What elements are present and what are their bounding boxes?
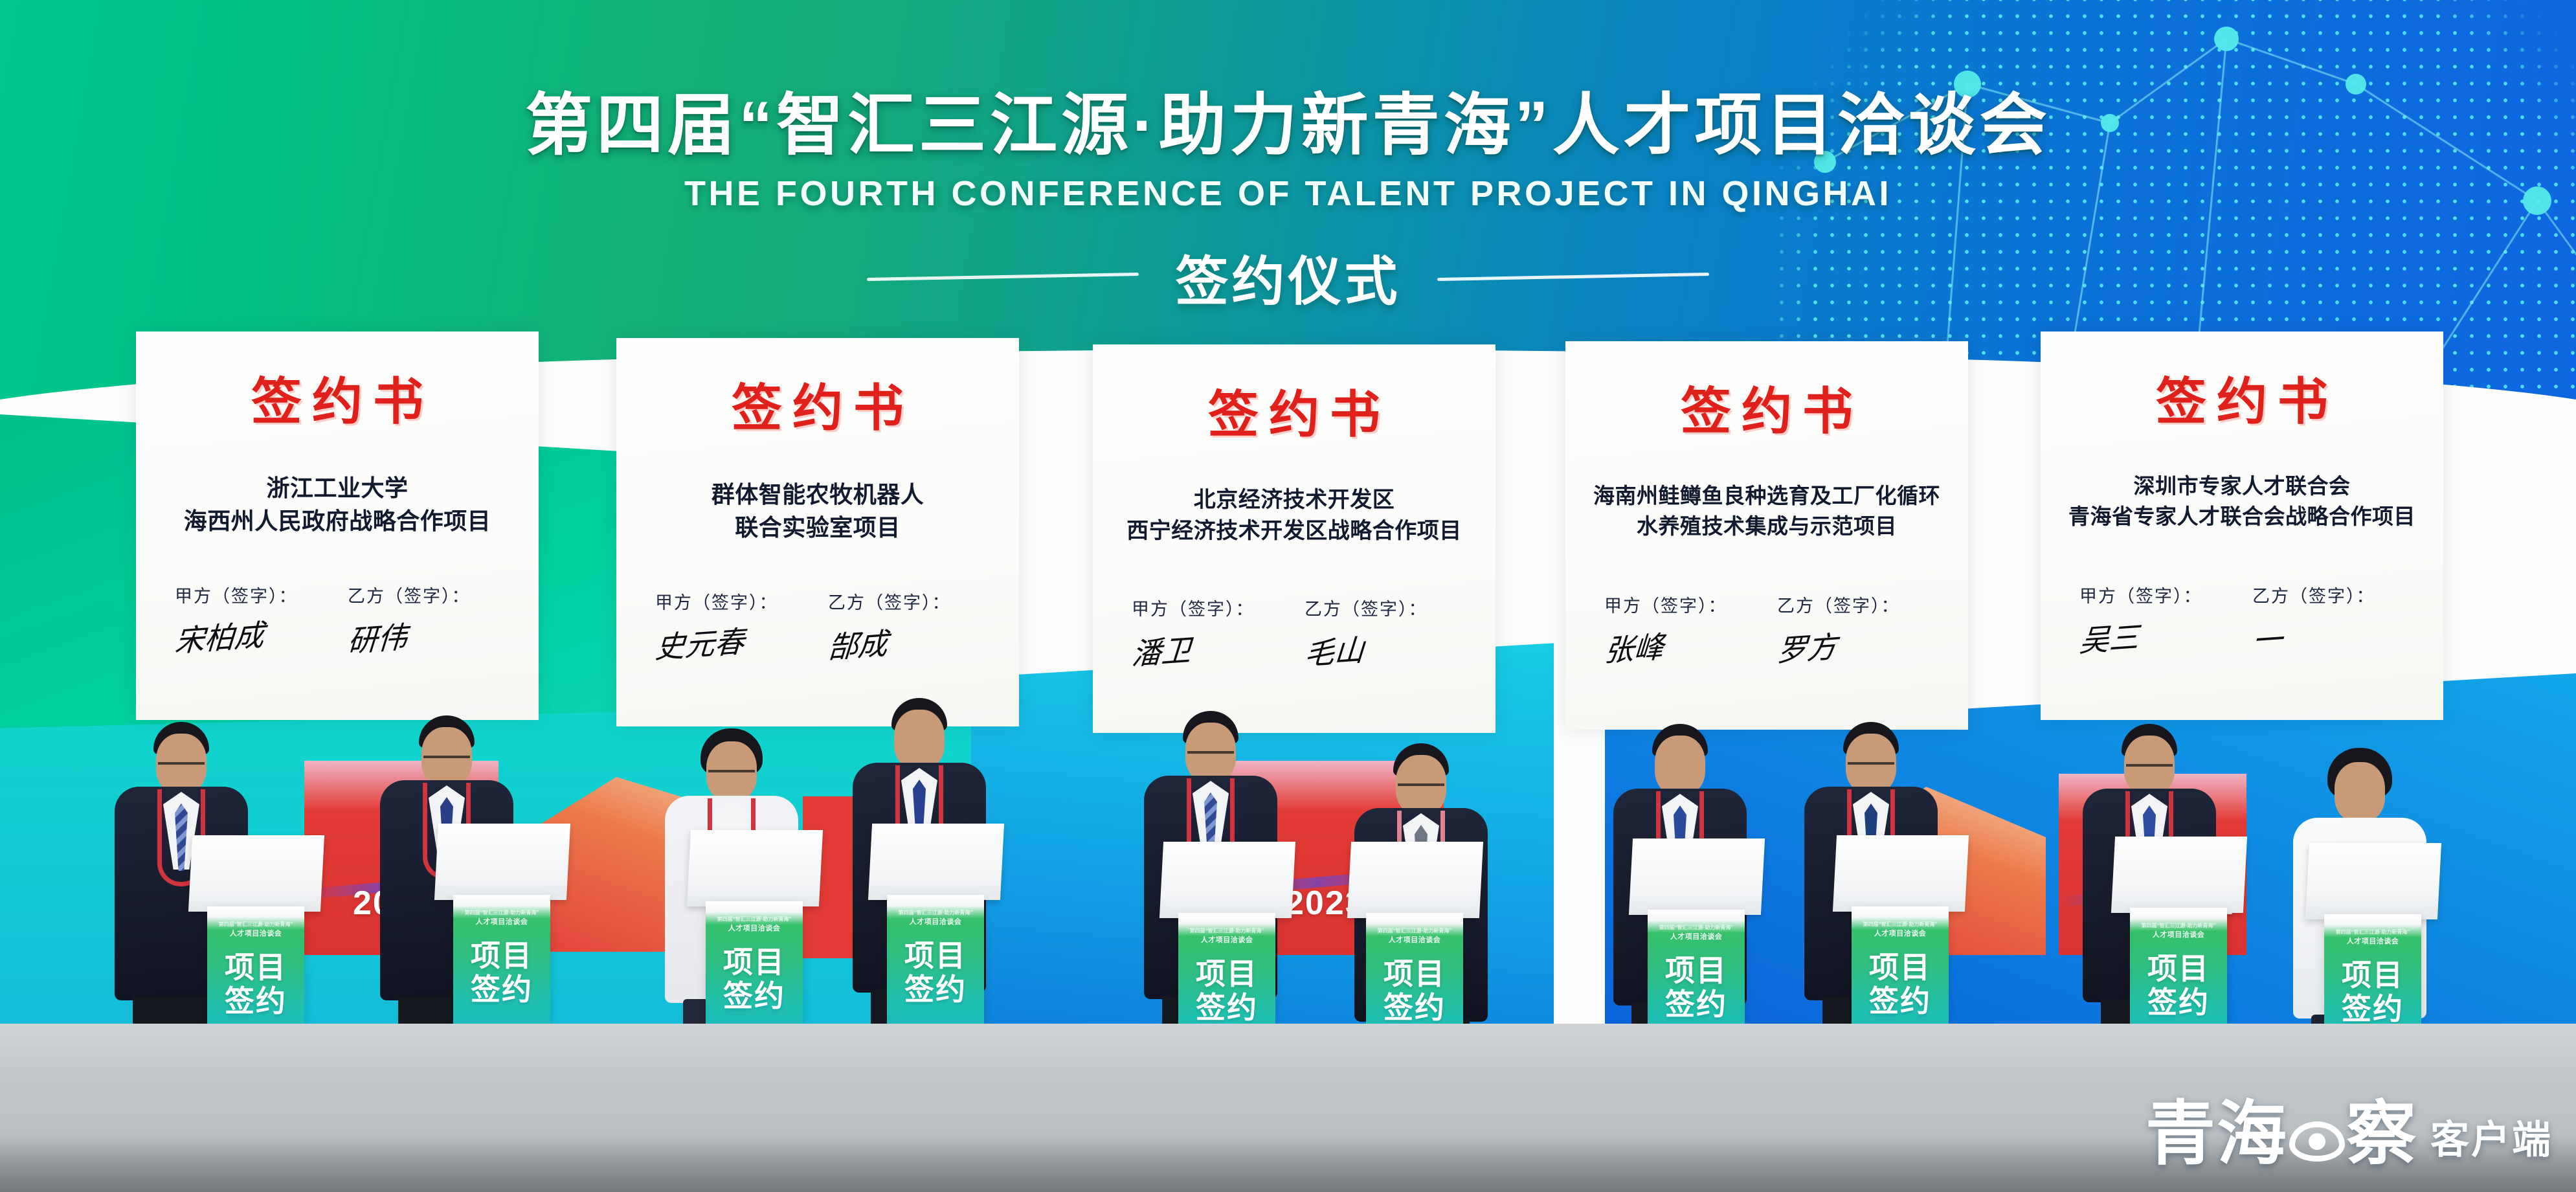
person-head: [2335, 762, 2385, 822]
certificate-line-1: 海南州鲑鳟鱼良种选育及工厂化循环: [1582, 481, 1951, 512]
podium-desktop: [188, 835, 324, 912]
podium-mini-text: 第四届“智汇三江源·助力新青海” 人才项目洽谈会: [706, 916, 803, 933]
party-b-label: 乙方（签字）：: [1777, 592, 1929, 617]
podium-mini-text: 第四届“智汇三江源·助力新青海” 人才项目洽谈会: [1178, 927, 1275, 945]
certificate-line-2: 水养殖技术集成与示范项目: [1582, 512, 1951, 542]
certificate-title: 签约书: [1093, 374, 1495, 447]
podium-main-word: 项目签约: [1852, 950, 1949, 1018]
signature-row: 甲方（签字）： 吴三 乙方（签字）： 一: [2041, 582, 2443, 658]
person-head: [1655, 736, 1705, 795]
ceremony-subtitle: 签约仪式: [1175, 238, 1400, 315]
podium-desktop: [1347, 842, 1483, 918]
podium-desktop: [1833, 835, 1969, 912]
party-a-column: 甲方（签字）： 张峰: [1604, 592, 1756, 668]
party-b-label: 乙方（签字）：: [1305, 595, 1457, 620]
podium-desktop: [687, 830, 823, 906]
party-b-signature: 一: [2251, 607, 2406, 664]
podium-mini-title: 人才项目洽谈会: [476, 918, 528, 926]
podium-mini-quote: 第四届“智汇三江源·助力新青海”: [453, 909, 550, 916]
watermark-logo: 青海察: [2145, 1100, 2417, 1170]
podium-desktop: [2111, 837, 2247, 913]
certificate-title: 签约书: [616, 368, 1019, 440]
page-title: 第四届“智汇三江源·助力新青海”人才项目洽谈会: [0, 70, 2576, 168]
party-a-label: 甲方（签字）：: [175, 582, 327, 607]
party-a-column: 甲方（签字）： 宋柏成: [175, 582, 327, 658]
watermark-text-part1: 青海: [2145, 1096, 2288, 1173]
podium-mini-text: 第四届“智汇三江源·助力新青海” 人才项目洽谈会: [2324, 928, 2421, 946]
certificate-project: 海南州鲑鳟鱼良种选育及工厂化循环 水养殖技术集成与示范项目: [1565, 481, 1968, 542]
party-b-column: 乙方（签字）： 一: [2252, 582, 2404, 658]
party-a-column: 甲方（签字）： 吴三: [2079, 582, 2232, 658]
signing-panel: 签约书 浙江工业大学 海西州人民政府战略合作项目 甲方（签字）： 宋柏成 乙方（…: [136, 332, 539, 720]
certificate-line-2: 青海省专家人才联合会战略合作项目: [2057, 502, 2426, 532]
podium-mini-quote: 第四届“智汇三江源·助力新青海”: [207, 921, 304, 928]
podium-mini-title: 人才项目洽谈会: [1389, 936, 1441, 944]
certificate-line-2: 联合实验室项目: [633, 511, 1002, 544]
party-a-signature: 潘卫: [1130, 620, 1285, 677]
podium-desktop: [868, 824, 1004, 900]
podium-mini-quote: 第四届“智汇三江源·助力新青海”: [1366, 927, 1463, 934]
podium-main-word: 项目签约: [2130, 952, 2227, 1020]
podium-main-word: 项目签约: [887, 939, 984, 1007]
party-b-signature: 毛山: [1303, 620, 1458, 677]
signing-ceremony-stage: 2023年7 2023年7 2023年7 第四届“智汇三江源·助力新青海”人才项…: [0, 0, 2576, 1192]
podium-main-word: 项目签约: [207, 950, 304, 1018]
party-a-signature: 张峰: [1603, 617, 1758, 673]
podium-main-word: 项目签约: [1366, 957, 1463, 1025]
person-glasses: [1398, 783, 1444, 794]
podium-mini-quote: 第四届“智汇三江源·助力新青海”: [1648, 924, 1745, 931]
podium-mini-text: 第四届“智汇三江源·助力新青海” 人才项目洽谈会: [887, 909, 984, 927]
certificate-line-1: 北京经济技术开发区: [1110, 484, 1479, 515]
person-glasses: [423, 756, 470, 766]
podium-main-word: 项目签约: [1648, 954, 1745, 1022]
podium-desktop: [1629, 838, 1765, 915]
party-a-label: 甲方（签字）：: [1132, 595, 1284, 620]
podium-mini-text: 第四届“智汇三江源·助力新青海” 人才项目洽谈会: [453, 909, 550, 927]
podium-mini-title: 人才项目洽谈会: [1670, 933, 1723, 941]
subtitle-rule-left: [867, 273, 1139, 281]
podium-mini-quote: 第四届“智汇三江源·助力新青海”: [1178, 927, 1275, 934]
page-subtitle-english: THE FOURTH CONFERENCE OF TALENT PROJECT …: [0, 174, 2576, 214]
podium-main-word: 项目签约: [2324, 958, 2421, 1026]
party-a-signature: 宋柏成: [174, 607, 328, 664]
certificate-title: 签约书: [1565, 371, 1968, 444]
party-b-signature: 罗方: [1776, 617, 1931, 673]
podium-mini-title: 人才项目洽谈会: [1201, 936, 1253, 944]
podium-desktop: [1159, 842, 1295, 918]
signing-panel: 签约书 深圳市专家人才联合会 青海省专家人才联合会战略合作项目 甲方（签字）： …: [2041, 332, 2443, 720]
watermark-text-part3: 察: [2346, 1096, 2417, 1173]
podium-desktop: [434, 824, 570, 900]
podium-mini-title: 人才项目洽谈会: [728, 925, 781, 932]
podium-main-word: 项目签约: [706, 945, 803, 1013]
party-b-column: 乙方（签字）： 罗方: [1777, 592, 1929, 668]
watermark-suffix: 客户端: [2430, 1108, 2553, 1170]
party-a-column: 甲方（签字）： 潘卫: [1132, 595, 1284, 671]
certificate-project: 浙江工业大学 海西州人民政府战略合作项目: [136, 471, 539, 537]
certificate-line-1: 深圳市专家人才联合会: [2057, 471, 2426, 502]
signature-row: 甲方（签字）： 张峰 乙方（签字）： 罗方: [1565, 592, 1968, 668]
certificate-project: 群体智能农牧机器人 联合实验室项目: [616, 478, 1019, 544]
person-glasses: [158, 762, 205, 772]
podium-mini-title: 人才项目洽谈会: [910, 918, 962, 926]
podium-mini-text: 第四届“智汇三江源·助力新青海” 人才项目洽谈会: [207, 921, 304, 938]
podium-mini-quote: 第四届“智汇三江源·助力新青海”: [706, 916, 803, 923]
signing-panel: 签约书 北京经济技术开发区 西宁经济技术开发区战略合作项目 甲方（签字）： 潘卫…: [1093, 344, 1495, 733]
party-a-label: 甲方（签字）：: [2079, 582, 2232, 607]
signing-panel: 签约书 群体智能农牧机器人 联合实验室项目 甲方（签字）： 史元春 乙方（签字）…: [616, 338, 1019, 726]
person-glasses: [708, 770, 755, 780]
podium-mini-text: 第四届“智汇三江源·助力新青海” 人才项目洽谈会: [1648, 924, 1745, 941]
podium-mini-quote: 第四届“智汇三江源·助力新青海”: [887, 909, 984, 916]
eye-icon: [2289, 1121, 2345, 1162]
party-b-column: 乙方（签字）： 毛山: [1305, 595, 1457, 671]
person-head: [894, 710, 945, 769]
person-glasses: [1187, 751, 1234, 761]
party-b-label: 乙方（签字）：: [2252, 582, 2404, 607]
podium-mini-quote: 第四届“智汇三江源·助力新青海”: [2324, 928, 2421, 936]
certificate-line-2: 海西州人民政府战略合作项目: [153, 504, 522, 537]
party-b-column: 乙方（签字）： 研伟: [348, 582, 500, 658]
podium-mini-title: 人才项目洽谈会: [230, 930, 282, 938]
certificate-line-1: 群体智能农牧机器人: [633, 478, 1002, 511]
party-b-signature: 研伟: [346, 607, 501, 664]
podium-mini-quote: 第四届“智汇三江源·助力新青海”: [2130, 922, 2227, 929]
certificate-title: 签约书: [2041, 361, 2443, 434]
podium-main-word: 项目签约: [453, 939, 550, 1007]
party-a-signature: 吴三: [2078, 607, 2233, 664]
party-a-signature: 史元春: [654, 614, 809, 670]
subtitle-rule-right: [1437, 273, 1708, 281]
signature-row: 甲方（签字）： 宋柏成 乙方（签字）： 研伟: [136, 582, 539, 658]
podium-mini-text: 第四届“智汇三江源·助力新青海” 人才项目洽谈会: [1852, 921, 1949, 938]
certificate-title: 签约书: [136, 361, 539, 434]
certificate-project: 北京经济技术开发区 西宁经济技术开发区战略合作项目: [1093, 484, 1495, 547]
podium-mini-quote: 第四届“智汇三江源·助力新青海”: [1852, 921, 1949, 928]
party-b-label: 乙方（签字）：: [348, 582, 500, 607]
signature-row: 甲方（签字）： 潘卫 乙方（签字）： 毛山: [1093, 595, 1495, 671]
party-b-column: 乙方（签字）： 郜成: [828, 589, 980, 664]
party-a-column: 甲方（签字）： 史元春: [655, 589, 807, 664]
podium-mini-text: 第四届“智汇三江源·助力新青海” 人才项目洽谈会: [2130, 922, 2227, 939]
party-b-label: 乙方（签字）：: [828, 589, 980, 614]
certificate-project: 深圳市专家人才联合会 青海省专家人才联合会战略合作项目: [2041, 471, 2443, 532]
certificate-line-1: 浙江工业大学: [153, 471, 522, 504]
signing-panel: 签约书 海南州鲑鳟鱼良种选育及工厂化循环 水养殖技术集成与示范项目 甲方（签字）…: [1565, 341, 1968, 730]
party-a-label: 甲方（签字）：: [1604, 592, 1756, 617]
person-glasses: [2126, 764, 2173, 774]
podium-main-word: 项目签约: [1178, 957, 1275, 1025]
certificate-line-2: 西宁经济技术开发区战略合作项目: [1110, 515, 1479, 546]
podium-mini-text: 第四届“智汇三江源·助力新青海” 人才项目洽谈会: [1366, 927, 1463, 945]
watermark: 青海察 客户端: [2145, 1100, 2553, 1170]
person-glasses: [1848, 762, 1894, 772]
ceremony-subtitle-row: 签约仪式: [0, 238, 2576, 315]
podium-mini-title: 人才项目洽谈会: [1874, 930, 1927, 938]
podium-desktop: [2305, 843, 2441, 919]
podium-mini-title: 人才项目洽谈会: [2153, 931, 2205, 939]
signature-row: 甲方（签字）： 史元春 乙方（签字）： 郜成: [616, 589, 1019, 664]
podium-mini-title: 人才项目洽谈会: [2347, 938, 2399, 945]
party-b-signature: 郜成: [827, 614, 981, 670]
party-a-label: 甲方（签字）：: [655, 589, 807, 614]
